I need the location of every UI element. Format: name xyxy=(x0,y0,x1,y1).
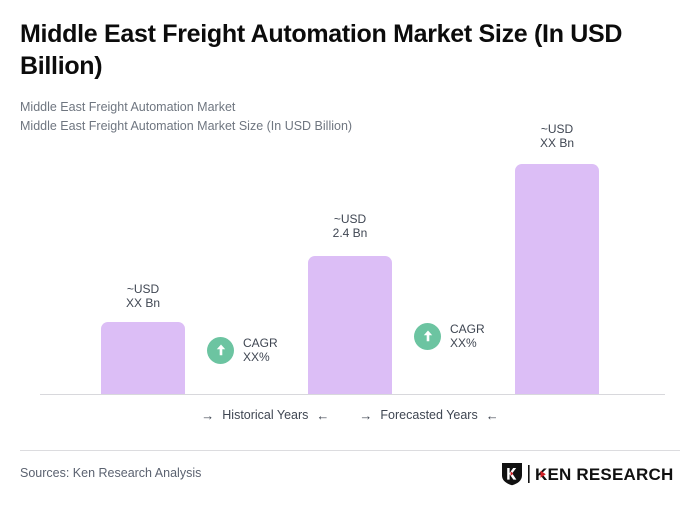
cagr-text-2-line1: CAGR xyxy=(450,322,485,336)
legend-item-historical[interactable]: → Historical Years ← xyxy=(201,408,329,422)
arrow-left-icon: ← xyxy=(486,409,499,422)
legend-label-forecasted: Forecasted Years xyxy=(380,408,477,422)
arrow-right-icon: → xyxy=(201,409,214,422)
footer-divider xyxy=(20,450,680,451)
plot-area: ~USD XX Bn CAGR XX% ~USD 2.4 Bn xyxy=(0,110,700,400)
arrow-up-icon xyxy=(414,323,441,350)
cagr-badge-1[interactable]: CAGR XX% xyxy=(207,336,278,365)
bar-label-3-line1: ~USD xyxy=(541,122,573,136)
arrow-left-icon: ← xyxy=(316,409,329,422)
page-title: Middle East Freight Automation Market Si… xyxy=(20,18,670,82)
period-legend: → Historical Years ← → Forecasted Years … xyxy=(0,408,700,422)
bar-1[interactable] xyxy=(101,322,185,394)
chart-page: Middle East Freight Automation Market Si… xyxy=(0,0,700,520)
cagr-text-2-line2: XX% xyxy=(450,336,485,350)
ken-research-shield-icon xyxy=(501,462,523,486)
axis-baseline xyxy=(40,394,665,395)
cagr-text-2: CAGR XX% xyxy=(450,322,485,351)
sources-text: Sources: Ken Research Analysis xyxy=(20,466,201,480)
ken-research-logo: KEN RESEARCH xyxy=(501,462,680,486)
arrow-right-icon: → xyxy=(359,409,372,422)
cagr-text-1-line1: CAGR xyxy=(243,336,278,350)
bar-label-1: ~USD XX Bn xyxy=(101,282,185,311)
bar-label-2-line2: 2.4 Bn xyxy=(308,226,392,240)
bar-label-2: ~USD 2.4 Bn xyxy=(308,212,392,241)
bar-label-3: ~USD XX Bn xyxy=(515,122,599,151)
legend-label-historical: Historical Years xyxy=(222,408,308,422)
cagr-text-1: CAGR XX% xyxy=(243,336,278,365)
bar-label-2-line1: ~USD xyxy=(334,212,366,226)
legend-item-forecasted[interactable]: → Forecasted Years ← xyxy=(359,408,498,422)
bar-label-3-line2: XX Bn xyxy=(515,136,599,150)
ken-research-wordmark: KEN RESEARCH xyxy=(528,464,680,484)
bar-3[interactable] xyxy=(515,164,599,394)
bar-2[interactable] xyxy=(308,256,392,394)
bar-label-1-line2: XX Bn xyxy=(101,296,185,310)
cagr-text-1-line2: XX% xyxy=(243,350,278,364)
chart-header: Middle East Freight Automation Market Si… xyxy=(20,18,670,82)
bar-label-1-line1: ~USD xyxy=(127,282,159,296)
svg-text:KEN RESEARCH: KEN RESEARCH xyxy=(535,465,673,484)
arrow-up-icon xyxy=(207,337,234,364)
cagr-badge-2[interactable]: CAGR XX% xyxy=(414,322,485,351)
